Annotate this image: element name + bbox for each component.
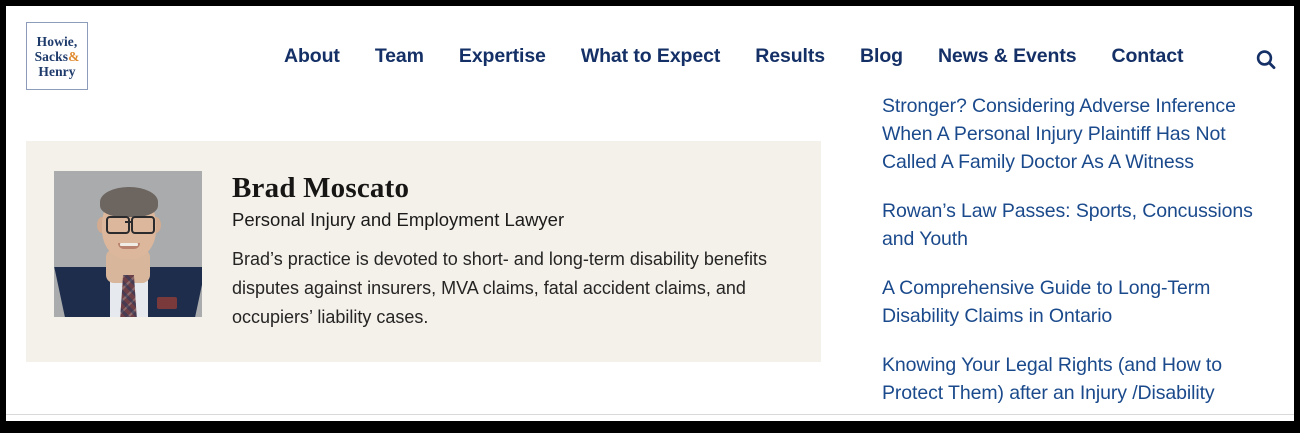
page-body: Brad Moscato Personal Injury and Employm…: [6, 104, 1294, 421]
search-button[interactable]: [1252, 46, 1280, 74]
sidebar-article-link[interactable]: Rowan’s Law Passes: Sports, Concussions …: [882, 197, 1272, 253]
logo-line-3: Henry: [38, 64, 75, 79]
nav-item-blog[interactable]: Blog: [860, 45, 903, 68]
nav-item-news-events[interactable]: News & Events: [938, 45, 1077, 68]
sidebar-article-link[interactable]: Knowing Your Legal Rights (and How to Pr…: [882, 351, 1272, 407]
main-navigation: About Team Expertise What to Expect Resu…: [284, 45, 1183, 68]
site-header: Howie, Sacks& Henry About Team Expertise…: [6, 6, 1294, 104]
lawyer-bio: Brad’s practice is devoted to short- and…: [232, 245, 792, 332]
nav-item-what-to-expect[interactable]: What to Expect: [581, 45, 720, 68]
nav-item-team[interactable]: Team: [375, 45, 424, 68]
nav-item-expertise[interactable]: Expertise: [459, 45, 546, 68]
footer-divider: [6, 414, 1294, 415]
logo-line-2: Sacks&: [35, 49, 80, 64]
nav-item-results[interactable]: Results: [755, 45, 825, 68]
logo-text-sacks: Sacks: [35, 49, 69, 64]
logo-line-1: Howie,: [37, 34, 78, 49]
logo-ampersand: &: [68, 49, 79, 64]
sidebar-article-link[interactable]: A Comprehensive Guide to Long-Term Disab…: [882, 274, 1272, 330]
lawyer-portrait-photo: [54, 171, 202, 317]
lawyer-name: Brad Moscato: [232, 173, 792, 205]
browser-viewport: Howie, Sacks& Henry About Team Expertise…: [6, 6, 1294, 421]
lawyer-profile-card: Brad Moscato Personal Injury and Employm…: [26, 141, 821, 362]
nav-item-about[interactable]: About: [284, 45, 340, 68]
related-articles-sidebar: Stronger? Considering Adverse Inference …: [882, 92, 1272, 407]
nav-item-contact[interactable]: Contact: [1111, 45, 1183, 68]
howie-sacks-henry-logo[interactable]: Howie, Sacks& Henry: [26, 22, 88, 90]
search-icon: [1254, 48, 1278, 72]
sidebar-article-link[interactable]: Stronger? Considering Adverse Inference …: [882, 92, 1272, 176]
lawyer-role: Personal Injury and Employment Lawyer: [232, 209, 792, 231]
profile-text-block: Brad Moscato Personal Injury and Employm…: [232, 171, 792, 332]
